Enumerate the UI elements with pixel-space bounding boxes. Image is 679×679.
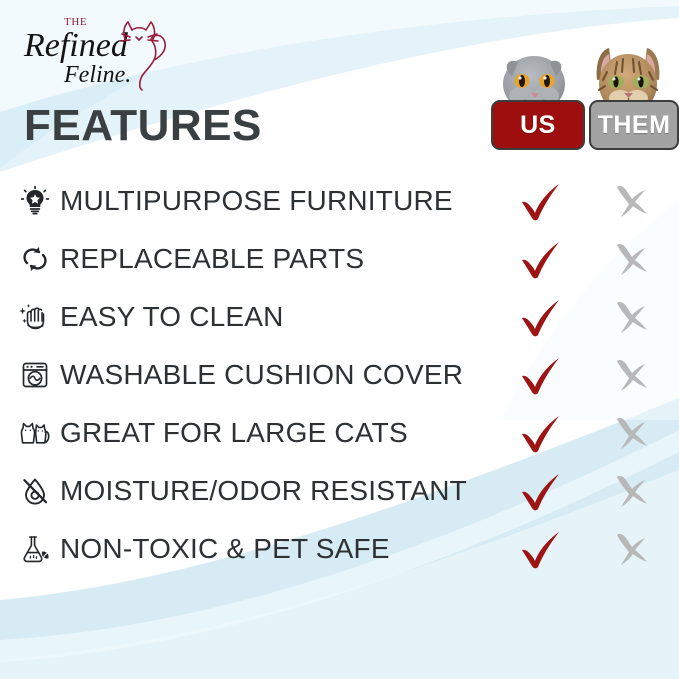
them-cross-mark-icon [608,354,654,396]
feature-label: EASY TO CLEAN [60,301,284,333]
wiping-hand-icon [18,300,52,334]
us-check-mark-icon [518,238,564,280]
features-comparison-infographic: THE Refined Feline. FEATURES [0,0,679,679]
feature-row: WASHABLE CUSHION COVER [0,346,679,404]
feature-row: MOISTURE/ODOR RESISTANT [0,462,679,520]
us-check-mark-icon [518,528,564,570]
svg-text:Feline.: Feline. [63,62,131,88]
brand-logo[interactable]: THE Refined Feline. [18,10,183,92]
them-cross-mark-icon [608,412,654,454]
feature-label: NON-TOXIC & PET SAFE [60,533,390,565]
feature-label: MULTIPURPOSE FURNITURE [60,185,453,217]
svg-text:Refined: Refined [23,27,129,64]
us-badge[interactable]: US [491,100,585,150]
recycle-arrows-icon [18,242,52,276]
column-badges: US THEM [489,98,679,150]
them-cross-mark-icon [608,296,654,338]
no-water-drop-icon [18,474,52,508]
flask-leaf-icon [18,532,52,566]
feature-list: MULTIPURPOSE FURNITURE REPLACEABLE PARTS [0,172,679,578]
feature-row: REPLACEABLE PARTS [0,230,679,288]
them-cross-mark-icon [608,470,654,512]
feature-row: NON-TOXIC & PET SAFE [0,520,679,578]
feature-row: GREAT FOR LARGE CATS [0,404,679,462]
feature-row: MULTIPURPOSE FURNITURE [0,172,679,230]
us-check-mark-icon [518,354,564,396]
feature-row: EASY TO CLEAN [0,288,679,346]
us-check-mark-icon [518,296,564,338]
comparison-header: US THEM [489,18,679,150]
washing-machine-icon [18,358,52,392]
feature-label: REPLACEABLE PARTS [60,243,364,275]
us-check-mark-icon [518,412,564,454]
us-check-mark-icon [518,470,564,512]
them-cross-mark-icon [608,238,654,280]
feature-label: WASHABLE CUSHION COVER [60,359,463,391]
feature-label: GREAT FOR LARGE CATS [60,417,408,449]
page-title: FEATURES [24,104,262,148]
them-cross-mark-icon [608,528,654,570]
feature-label: MOISTURE/ODOR RESISTANT [60,475,467,507]
lightbulb-star-icon [18,184,52,218]
them-badge[interactable]: THEM [589,100,679,150]
two-cats-icon [18,416,52,450]
us-check-mark-icon [518,180,564,222]
them-cross-mark-icon [608,180,654,222]
